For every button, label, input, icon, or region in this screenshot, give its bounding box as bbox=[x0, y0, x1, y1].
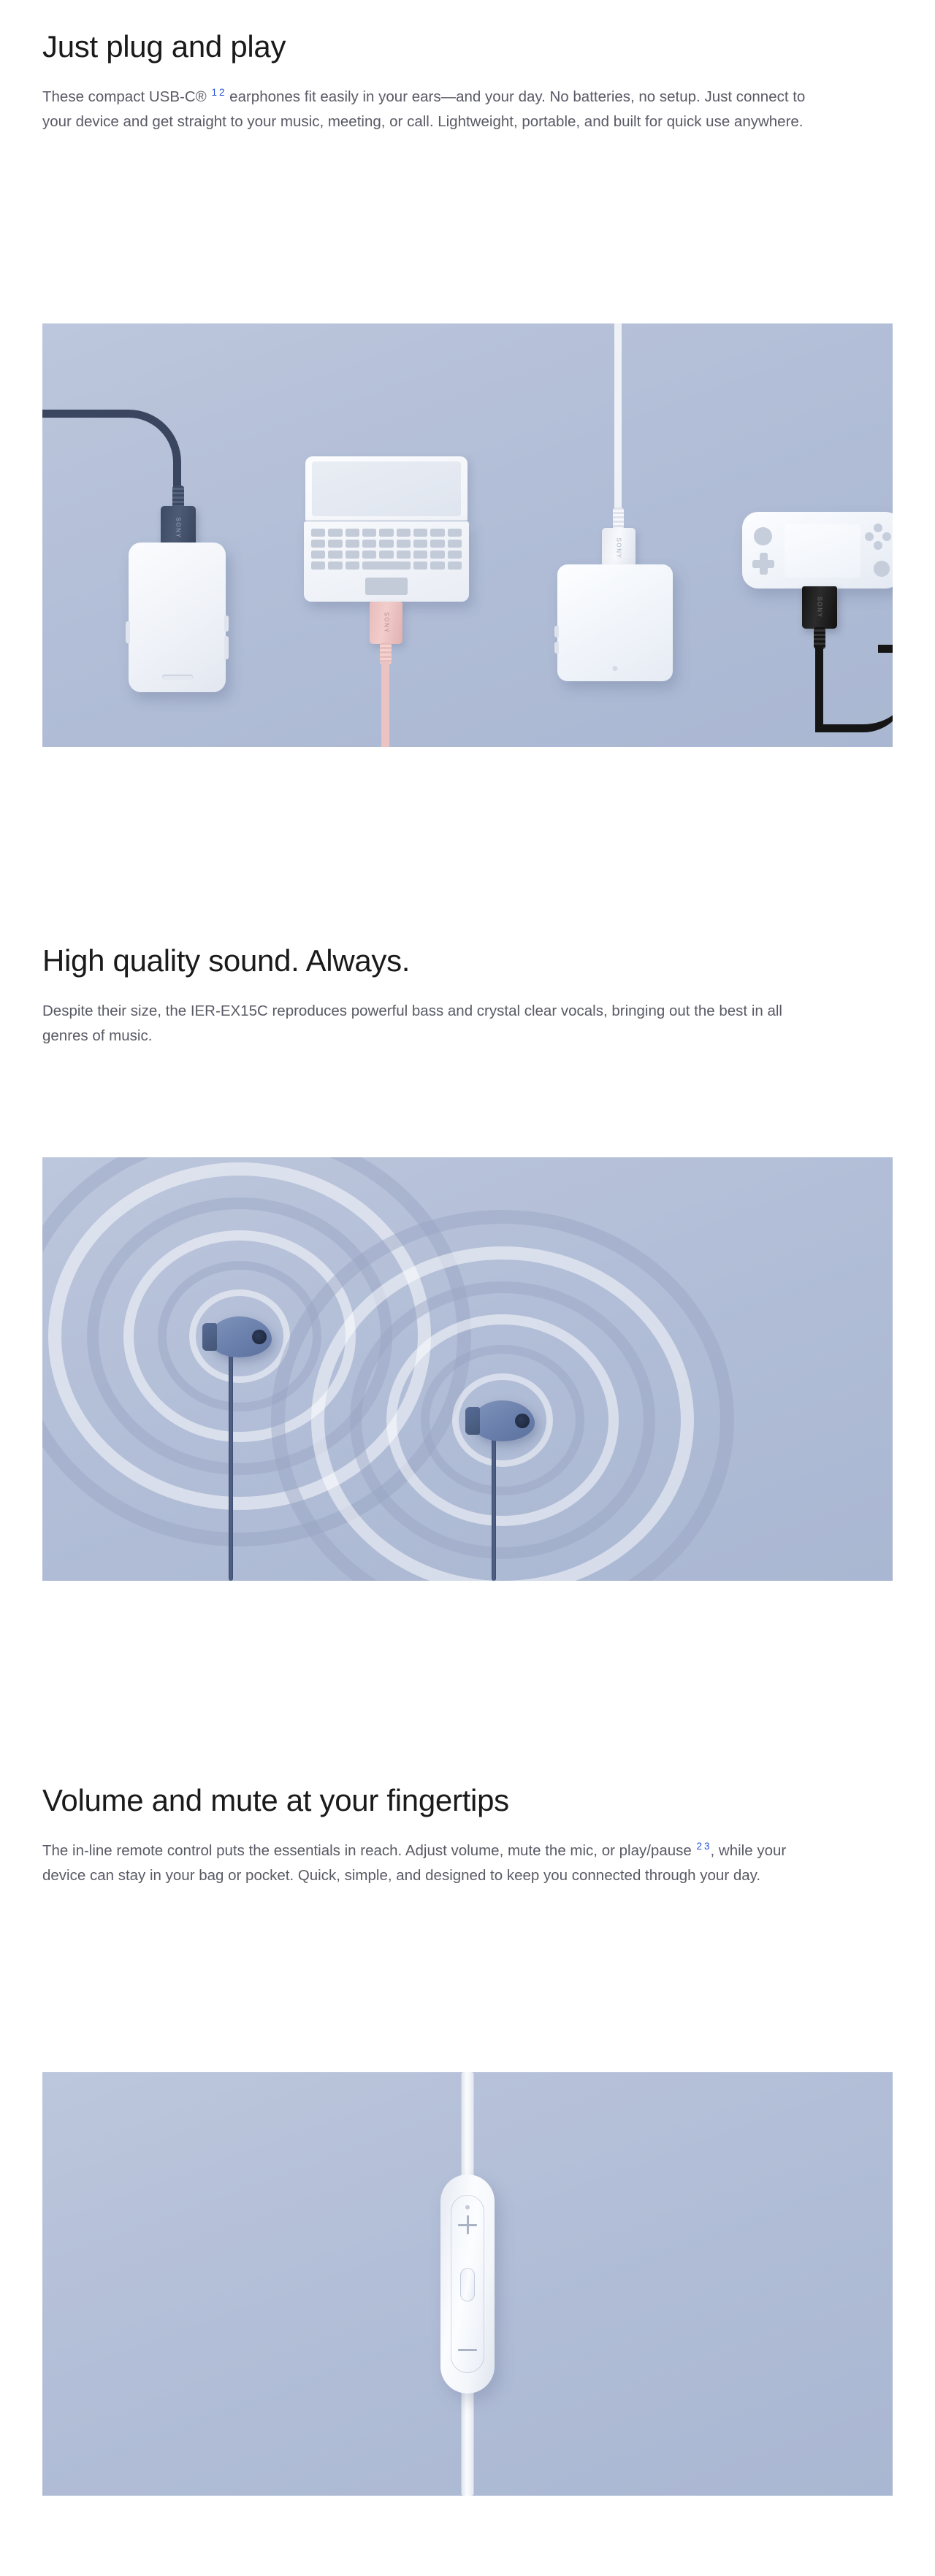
section-heading-volume-and-mute: Volume and mute at your fingertips bbox=[42, 1782, 868, 1820]
left-earbud-wire bbox=[229, 1353, 233, 1581]
section-plug-and-play: Just plug and play These compact USB-C® … bbox=[0, 0, 935, 774]
product-feature-page: Just plug and play These compact USB-C® … bbox=[0, 0, 935, 2576]
microphone-icon bbox=[465, 2205, 470, 2209]
volume-up-icon[interactable] bbox=[458, 2215, 477, 2234]
right-earbud-nozzle bbox=[515, 1414, 530, 1428]
white-strain-relief bbox=[613, 507, 624, 529]
right-earbud bbox=[472, 1400, 535, 1441]
plug-brand-label-black: SONY bbox=[817, 597, 823, 618]
black-cable-segment bbox=[878, 645, 893, 653]
device-smartphone bbox=[129, 543, 226, 692]
remote-cable-upper bbox=[462, 2072, 474, 2182]
pink-cable bbox=[381, 662, 389, 747]
section-body-high-quality-sound: Despite their size, the IER-EX15C reprod… bbox=[42, 999, 809, 1049]
section-body-volume-and-mute: The in-line remote control puts the esse… bbox=[42, 1839, 809, 1888]
left-earbud-nozzle bbox=[252, 1330, 267, 1344]
phone-side-button-right-upper bbox=[224, 616, 229, 632]
section-volume-and-mute: Volume and mute at your fingertips The i… bbox=[0, 1782, 935, 2512]
footnote-ref-3[interactable]: 3 bbox=[703, 1841, 711, 1852]
pink-usb-c-plug: SONY bbox=[370, 602, 402, 644]
plug-brand-label-white: SONY bbox=[616, 537, 622, 559]
player-side-button-lower bbox=[554, 642, 559, 653]
console-dpad bbox=[752, 553, 774, 575]
section-body-plug-and-play: These compact USB-C® 12 earphones fit ea… bbox=[42, 85, 809, 134]
feature-image-devices: SONY bbox=[42, 323, 893, 747]
section-heading-high-quality-sound: High quality sound. Always. bbox=[42, 942, 868, 980]
footnote-ref-1[interactable]: 1 bbox=[210, 87, 218, 98]
body-text-before-refs: Despite their size, the IER-EX15C reprod… bbox=[42, 1003, 782, 1044]
console-action-button bbox=[874, 561, 890, 577]
laptop-keyboard bbox=[311, 529, 462, 572]
plug-brand-label-pink: SONY bbox=[383, 612, 389, 633]
black-cable bbox=[815, 645, 893, 732]
photo-backdrop: SONY bbox=[42, 323, 893, 747]
phone-side-button-left bbox=[126, 621, 130, 643]
photo-backdrop bbox=[42, 2072, 893, 2496]
section-heading-plug-and-play: Just plug and play bbox=[42, 28, 868, 66]
console-analog-stick bbox=[754, 527, 772, 545]
feature-image-inline-remote bbox=[42, 2072, 893, 2496]
device-laptop-base bbox=[304, 521, 469, 602]
navy-cable bbox=[42, 410, 181, 491]
remote-button-panel bbox=[451, 2195, 484, 2373]
play-pause-button[interactable] bbox=[460, 2268, 475, 2301]
console-face-buttons bbox=[865, 524, 891, 550]
remote-cable-lower bbox=[462, 2379, 474, 2496]
black-usb-c-plug: SONY bbox=[802, 586, 837, 629]
footnote-ref-2[interactable]: 2 bbox=[695, 1841, 703, 1852]
device-portable-player bbox=[557, 564, 673, 681]
feature-image-earbuds bbox=[42, 1157, 893, 1581]
volume-down-icon[interactable] bbox=[458, 2349, 477, 2351]
plug-brand-label-navy: SONY bbox=[175, 517, 182, 538]
left-earbud-cap bbox=[202, 1323, 217, 1351]
white-usb-c-plug: SONY bbox=[602, 528, 636, 569]
section-high-quality-sound: High quality sound. Always. Despite thei… bbox=[0, 942, 935, 1636]
phone-side-button-right-lower bbox=[224, 636, 229, 659]
player-side-button-upper bbox=[554, 626, 559, 637]
device-laptop-screen bbox=[305, 456, 467, 521]
body-text-before-refs: These compact USB-C® bbox=[42, 88, 210, 105]
body-text-before-refs: The in-line remote control puts the esse… bbox=[42, 1842, 695, 1859]
laptop-trackpad bbox=[365, 578, 408, 595]
inline-remote-body bbox=[440, 2174, 495, 2393]
left-earbud bbox=[209, 1316, 272, 1357]
white-cable bbox=[614, 323, 622, 510]
device-handheld-console bbox=[742, 512, 893, 589]
right-earbud-wire bbox=[492, 1438, 496, 1581]
photo-backdrop bbox=[42, 1157, 893, 1581]
sound-ripple bbox=[271, 1210, 734, 1581]
right-earbud-cap bbox=[465, 1407, 480, 1435]
console-screen bbox=[785, 524, 860, 578]
